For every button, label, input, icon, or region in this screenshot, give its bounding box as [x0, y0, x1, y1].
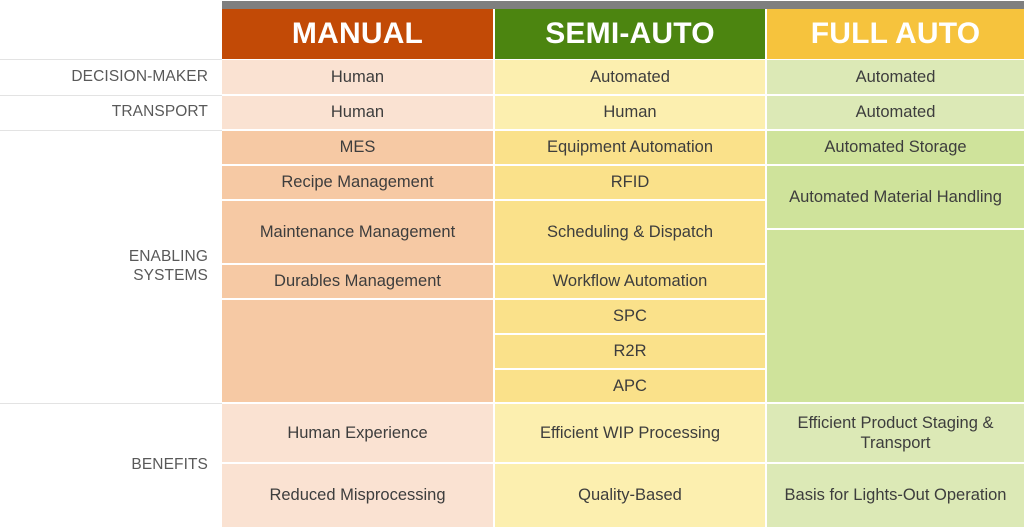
cell-benefits-semi-2: Quality-Based — [495, 464, 765, 527]
row-label-enabling-systems: ENABLING SYSTEMS — [0, 130, 208, 403]
cell-enabling-semi-3: Scheduling & Dispatch — [495, 201, 765, 263]
row-label-benefits: BENEFITS — [0, 403, 208, 527]
cell-benefits-semi-1: Efficient WIP Processing — [495, 404, 765, 462]
row-label-column: DECISION-MAKER TRANSPORT ENABLING SYSTEM… — [0, 0, 222, 527]
row-label-transport: TRANSPORT — [0, 95, 208, 130]
column-header-full-auto[interactable]: FULL AUTO — [767, 9, 1024, 59]
automation-maturity-matrix: DECISION-MAKER TRANSPORT ENABLING SYSTEM… — [0, 0, 1024, 527]
cell-transport-manual: Human — [222, 96, 493, 129]
cell-benefits-full-2: Basis for Lights-Out Operation — [767, 464, 1024, 527]
cell-enabling-manual-blank — [222, 300, 493, 402]
cell-decision-maker-manual: Human — [222, 60, 493, 94]
cell-enabling-full-blank — [767, 230, 1024, 402]
cell-enabling-manual-2: Recipe Management — [222, 166, 493, 199]
cell-benefits-manual-1: Human Experience — [222, 404, 493, 462]
cell-enabling-manual-3: Maintenance Management — [222, 201, 493, 263]
cell-enabling-semi-6: R2R — [495, 335, 765, 368]
cell-enabling-manual-4: Durables Management — [222, 265, 493, 298]
cell-transport-semi: Human — [495, 96, 765, 129]
cell-enabling-full-1: Automated Storage — [767, 131, 1024, 164]
cell-enabling-semi-1: Equipment Automation — [495, 131, 765, 164]
cell-decision-maker-semi: Automated — [495, 60, 765, 94]
cell-enabling-semi-5: SPC — [495, 300, 765, 333]
cell-enabling-semi-2: RFID — [495, 166, 765, 199]
top-rule — [222, 1, 1024, 9]
cell-enabling-semi-4: Workflow Automation — [495, 265, 765, 298]
cell-benefits-full-1: Efficient Product Staging & Transport — [767, 404, 1024, 462]
cell-benefits-manual-2: Reduced Misprocessing — [222, 464, 493, 527]
column-header-semi-auto[interactable]: SEMI-AUTO — [495, 9, 765, 59]
cell-transport-full: Automated — [767, 96, 1024, 129]
column-header-manual[interactable]: MANUAL — [222, 9, 493, 59]
cell-enabling-semi-7: APC — [495, 370, 765, 402]
row-label-decision-maker: DECISION-MAKER — [0, 59, 208, 95]
cell-enabling-manual-1: MES — [222, 131, 493, 164]
cell-decision-maker-full: Automated — [767, 60, 1024, 94]
cell-enabling-full-2: Automated Material Handling — [767, 166, 1024, 228]
